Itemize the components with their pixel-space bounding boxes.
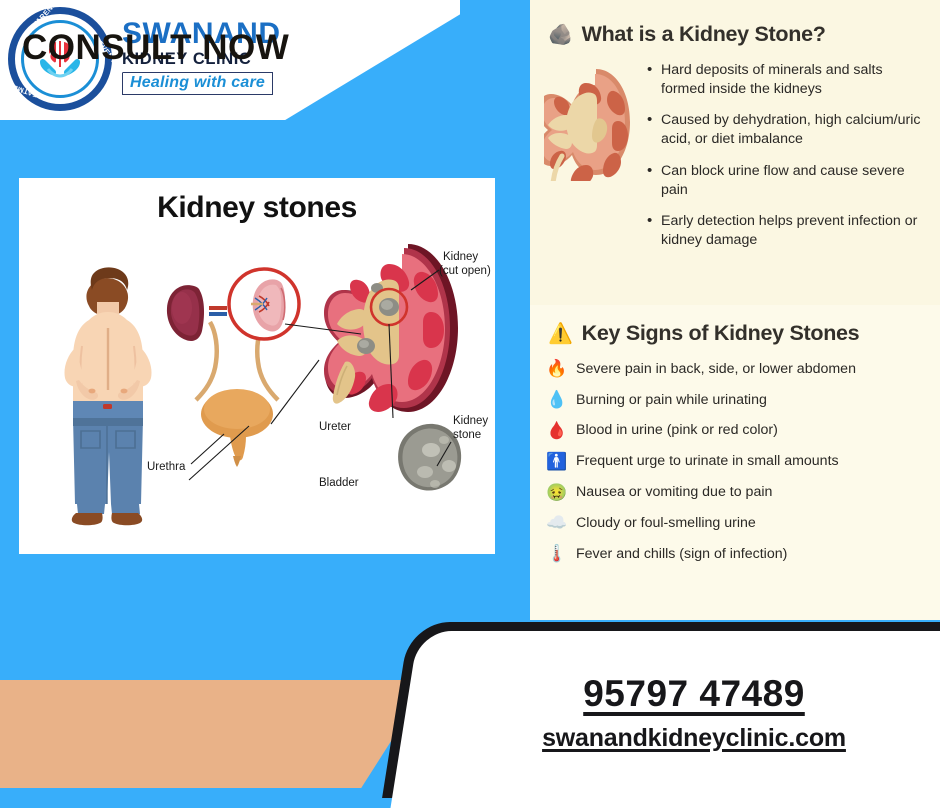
- kidney-stones-diagram: Kidney (cut open) Kidney stone Ureter Bl…: [19, 228, 495, 554]
- list-item: 🌡️ Fever and chills (sign of infection): [546, 544, 940, 564]
- sign-text: Cloudy or foul-smelling urine: [576, 515, 756, 532]
- sign-text: Frequent urge to urinate in small amount…: [576, 453, 839, 470]
- about-section-body: Hard deposits of minerals and salts form…: [530, 47, 940, 263]
- about-bullet: Early detection helps prevent infection …: [646, 212, 921, 249]
- blood-drop-icon: 🩸: [546, 421, 566, 441]
- phone-number[interactable]: 95797 47489: [583, 673, 805, 715]
- badge-word-treatment: TREATMENT: [2, 80, 49, 103]
- list-item: 🤢 Nausea or vomiting due to pain: [546, 483, 940, 503]
- list-item: 🚹 Frequent urge to urinate in small amou…: [546, 452, 940, 472]
- list-item: ☁️ Cloudy or foul-smelling urine: [546, 513, 940, 533]
- kidney-stone-illustration: [398, 424, 461, 491]
- about-bullet: Hard deposits of minerals and salts form…: [646, 61, 921, 98]
- brand-tagline: Healing with care: [130, 74, 265, 91]
- illustration-title: Kidney stones: [19, 178, 495, 225]
- kidney-cross-section-icon: [544, 57, 640, 263]
- right-panel: 🪨 What is a Kidney Stone?: [530, 0, 940, 620]
- restroom-person-icon: 🚹: [546, 452, 566, 472]
- signs-section: ⚠️ Key Signs of Kidney Stones 🔥 Severe p…: [530, 305, 940, 620]
- label-kidney-cut-open-line1: Kidney: [443, 251, 478, 263]
- label-kidney-cut-open-line2: (cut open): [439, 265, 491, 277]
- sign-text: Blood in urine (pink or red color): [576, 422, 778, 439]
- list-item: 💧 Burning or pain while urinating: [546, 390, 940, 410]
- water-drop-icon: 💧: [546, 390, 566, 410]
- fire-icon: 🔥: [546, 359, 566, 379]
- stone-icon: 🪨: [548, 25, 573, 45]
- sign-text: Fever and chills (sign of infection): [576, 546, 787, 563]
- sign-text: Burning or pain while urinating: [576, 392, 767, 409]
- consult-now-band: [0, 680, 430, 788]
- warning-triangle-icon: ⚠️: [548, 324, 573, 344]
- kidney-cross-section-illustration: [324, 244, 458, 412]
- consult-now-label: CONSULT NOW: [22, 28, 289, 68]
- list-item: 🩸 Blood in urine (pink or red color): [546, 421, 940, 441]
- about-bullet: Can block urine flow and cause severe pa…: [646, 162, 921, 199]
- nauseated-face-icon: 🤢: [546, 483, 566, 503]
- about-section-header: 🪨 What is a Kidney Stone?: [530, 0, 940, 47]
- label-urethra: Urethra: [147, 461, 186, 473]
- label-kidney-stone-line2: stone: [453, 429, 481, 441]
- website-url[interactable]: swanandkidneyclinic.com: [542, 724, 846, 753]
- brand-tagline-box: Healing with care: [122, 72, 273, 95]
- sign-text: Severe pain in back, side, or lower abdo…: [576, 361, 856, 378]
- about-bullet: Caused by dehydration, high calcium/uric…: [646, 111, 921, 148]
- label-ureter: Ureter: [319, 421, 351, 433]
- label-kidney-stone-line1: Kidney: [453, 415, 488, 427]
- panel-divider: [507, 0, 530, 620]
- contact-details: 95797 47489 swanandkidneyclinic.com: [420, 638, 940, 788]
- cloud-icon: ☁️: [546, 513, 566, 533]
- sign-text: Nausea or vomiting due to pain: [576, 484, 772, 501]
- signs-section-header: ⚠️ Key Signs of Kidney Stones: [530, 305, 940, 346]
- about-section-title: What is a Kidney Stone?: [582, 22, 826, 47]
- about-section: 🪨 What is a Kidney Stone?: [530, 0, 940, 305]
- about-bullet-list: Hard deposits of minerals and salts form…: [646, 57, 921, 263]
- signs-section-title: Key Signs of Kidney Stones: [582, 321, 860, 346]
- signs-list: 🔥 Severe pain in back, side, or lower ab…: [530, 346, 940, 565]
- list-item: 🔥 Severe pain in back, side, or lower ab…: [546, 359, 940, 379]
- patient-figure-illustration: [64, 267, 151, 525]
- urinary-tract-illustration: [167, 269, 299, 467]
- illustration-card: Kidney stones: [19, 178, 495, 554]
- thermometer-icon: 🌡️: [546, 544, 566, 564]
- label-bladder: Bladder: [319, 477, 359, 489]
